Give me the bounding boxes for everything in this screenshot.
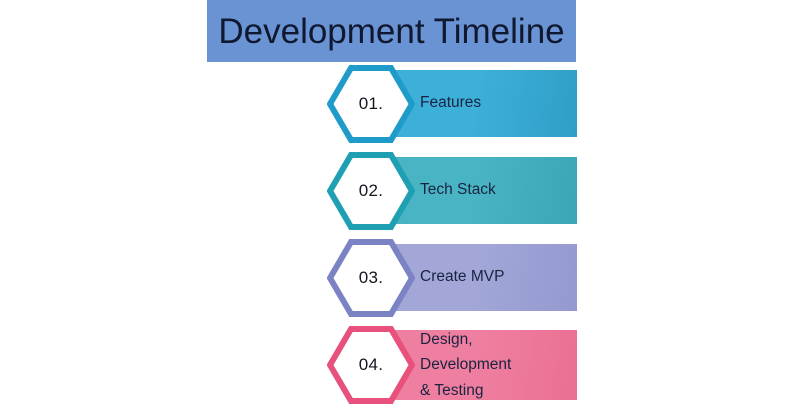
step-label: Create MVP (420, 244, 570, 311)
step-label-line: Design, (420, 327, 570, 352)
step-number: 04. (327, 326, 415, 404)
step-hexagon-badge: 03. (327, 239, 415, 317)
step-label-line: Development (420, 352, 570, 377)
timeline-infographic: Development Timeline Features 01. Tech S… (0, 0, 800, 400)
timeline-step-2[interactable]: Tech Stack 02. (327, 157, 577, 224)
timeline-step-4[interactable]: Design, Development & Testing 04. (327, 330, 577, 400)
step-label: Design, Development & Testing (420, 330, 570, 400)
step-label: Features (420, 70, 570, 137)
step-hexagon-badge: 01. (327, 65, 415, 143)
page-title-bar: Development Timeline (207, 0, 576, 62)
step-label-line: Tech Stack (420, 178, 570, 202)
step-label-line: & Testing (420, 378, 570, 403)
step-label: Tech Stack (420, 157, 570, 224)
step-label-line: Create MVP (420, 265, 570, 289)
step-number: 03. (327, 239, 415, 317)
step-label-line: Features (420, 91, 570, 115)
page-title: Development Timeline (218, 14, 564, 49)
timeline-step-1[interactable]: Features 01. (327, 70, 577, 137)
step-number: 01. (327, 65, 415, 143)
step-hexagon-badge: 04. (327, 326, 415, 404)
step-hexagon-badge: 02. (327, 152, 415, 230)
step-number: 02. (327, 152, 415, 230)
timeline-step-3[interactable]: Create MVP 03. (327, 244, 577, 311)
